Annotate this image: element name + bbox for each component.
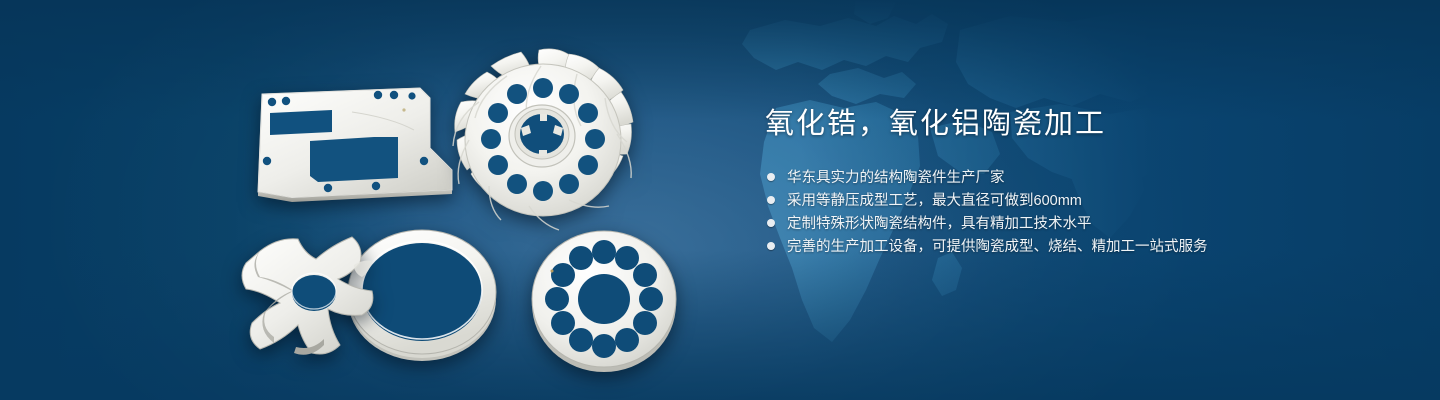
ceramic-impeller-photo — [453, 49, 633, 230]
product-banner: 氧化锆，氧化铝陶瓷加工 华东具实力的结构陶瓷件生产厂家 采用等静压成型工艺，最大… — [0, 0, 1440, 400]
ceramic-plate-photo — [258, 88, 452, 202]
product-photo-group — [0, 0, 720, 400]
bullet-dot-icon — [767, 196, 775, 204]
list-item: 华东具实力的结构陶瓷件生产厂家 — [765, 165, 1385, 188]
banner-text-block: 氧化锆，氧化铝陶瓷加工 华东具实力的结构陶瓷件生产厂家 采用等静压成型工艺，最大… — [765, 110, 1385, 257]
bullet-dot-icon — [767, 219, 775, 227]
list-item-label: 采用等静压成型工艺，最大直径可做到600mm — [787, 189, 1082, 210]
bullet-dot-icon — [767, 173, 775, 181]
ceramic-cross-plate-photo — [242, 237, 373, 355]
list-item: 采用等静压成型工艺，最大直径可做到600mm — [765, 188, 1385, 211]
page-title: 氧化锆，氧化铝陶瓷加工 — [765, 110, 1385, 139]
list-item-label: 华东具实力的结构陶瓷件生产厂家 — [787, 166, 1005, 187]
ceramic-perforated-disc-photo — [532, 231, 676, 372]
list-item-label: 定制特殊形状陶瓷结构件，具有精加工技术水平 — [787, 212, 1092, 233]
feature-list: 华东具实力的结构陶瓷件生产厂家 采用等静压成型工艺，最大直径可做到600mm 定… — [765, 165, 1385, 257]
bullet-dot-icon — [767, 242, 775, 250]
list-item: 完善的生产加工设备，可提供陶瓷成型、烧结、精加工一站式服务 — [765, 234, 1385, 257]
list-item: 定制特殊形状陶瓷结构件，具有精加工技术水平 — [765, 211, 1385, 234]
list-item-label: 完善的生产加工设备，可提供陶瓷成型、烧结、精加工一站式服务 — [787, 235, 1208, 256]
